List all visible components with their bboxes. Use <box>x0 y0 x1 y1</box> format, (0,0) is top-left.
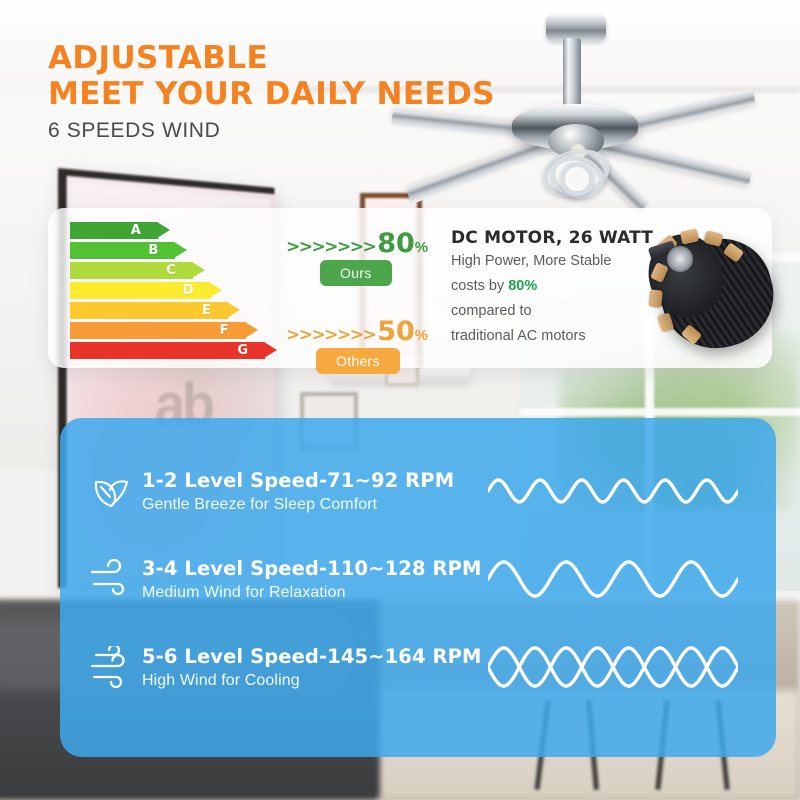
energy-bar-F: F <box>70 322 246 339</box>
energy-bar-label: C <box>166 263 176 278</box>
energy-bar-D: D <box>70 282 210 299</box>
energy-label: ABCDEFG <box>70 222 265 362</box>
energy-bar-label: D <box>183 283 194 298</box>
wind-small-icon <box>80 554 142 604</box>
dc-motor-photo <box>643 226 795 358</box>
motor-line-2: costs by 80% <box>451 275 666 298</box>
energy-bar-label: A <box>131 223 141 238</box>
ours-unit: % <box>415 239 428 256</box>
headline-line-2: MEET YOUR DAILY NEEDS <box>48 76 518 112</box>
motor-savings-highlight: 80% <box>508 278 537 294</box>
arrows-icon: >>>>>>> <box>286 237 375 257</box>
ours-value: 80 <box>377 228 415 259</box>
energy-bar-label: F <box>220 323 229 338</box>
crystal-ring <box>560 162 594 196</box>
others-unit: % <box>415 327 428 344</box>
energy-bar-label: B <box>148 243 158 258</box>
speed-row: 1-2 Level Speed-71~92 RPMGentle Breeze f… <box>80 460 760 522</box>
energy-bar-A: A <box>70 222 158 239</box>
speed-row: 3-4 Level Speed-110~128 RPMMedium Wind f… <box>80 548 760 610</box>
motor-line-4: traditional AC motors <box>451 325 666 348</box>
window-mullion-horizontal <box>520 408 800 416</box>
wave-medium <box>488 548 738 610</box>
headline-line-1: ADJUSTABLE <box>48 40 518 76</box>
energy-bar-label: E <box>202 303 211 318</box>
motor-line-2-prefix: costs by <box>451 278 508 294</box>
comparison-others: >>>>>>> 50 % <box>286 316 428 347</box>
energy-bar-G: G <box>70 342 265 359</box>
ours-badge: Ours <box>320 260 392 286</box>
wave-low <box>488 460 738 522</box>
others-badge: Others <box>316 348 400 374</box>
motor-bearing <box>667 246 693 272</box>
motor-line-3: compared to <box>451 300 666 323</box>
energy-bar-E: E <box>70 302 228 319</box>
others-value: 50 <box>377 316 415 347</box>
headline-block: ADJUSTABLE MEET YOUR DAILY NEEDS 6 SPEED… <box>48 40 518 143</box>
wind-strong-icon <box>80 642 142 692</box>
arrows-icon: >>>>>>> <box>286 325 375 345</box>
motor-title: DC MOTOR, 26 WATT <box>451 228 666 248</box>
product-infographic: ab ADJUSTABLE MEET <box>0 0 800 800</box>
energy-bar-B: B <box>70 242 175 259</box>
energy-bar-C: C <box>70 262 193 279</box>
wave-high <box>488 636 738 698</box>
energy-bar-label: G <box>237 343 248 358</box>
energy-comparison-card: ABCDEFG >>>>>>> 80 % Ours >>>>>>> 50 % O… <box>48 208 772 368</box>
motor-text-block: DC MOTOR, 26 WATT High Power, More Stabl… <box>451 228 666 348</box>
fan-crystal-light <box>536 140 618 200</box>
leaf-icon <box>80 466 142 516</box>
comparison-ours: >>>>>>> 80 % <box>286 228 428 259</box>
fan-downrod <box>563 38 581 110</box>
speed-levels-panel: 1-2 Level Speed-71~92 RPMGentle Breeze f… <box>60 418 776 757</box>
motor-line-1: High Power, More Stable <box>451 250 666 273</box>
speed-row: 5-6 Level Speed-145~164 RPMHigh Wind for… <box>80 636 760 698</box>
headline-subtitle: 6 SPEEDS WIND <box>48 119 518 143</box>
motor-copper-coil <box>648 289 663 307</box>
